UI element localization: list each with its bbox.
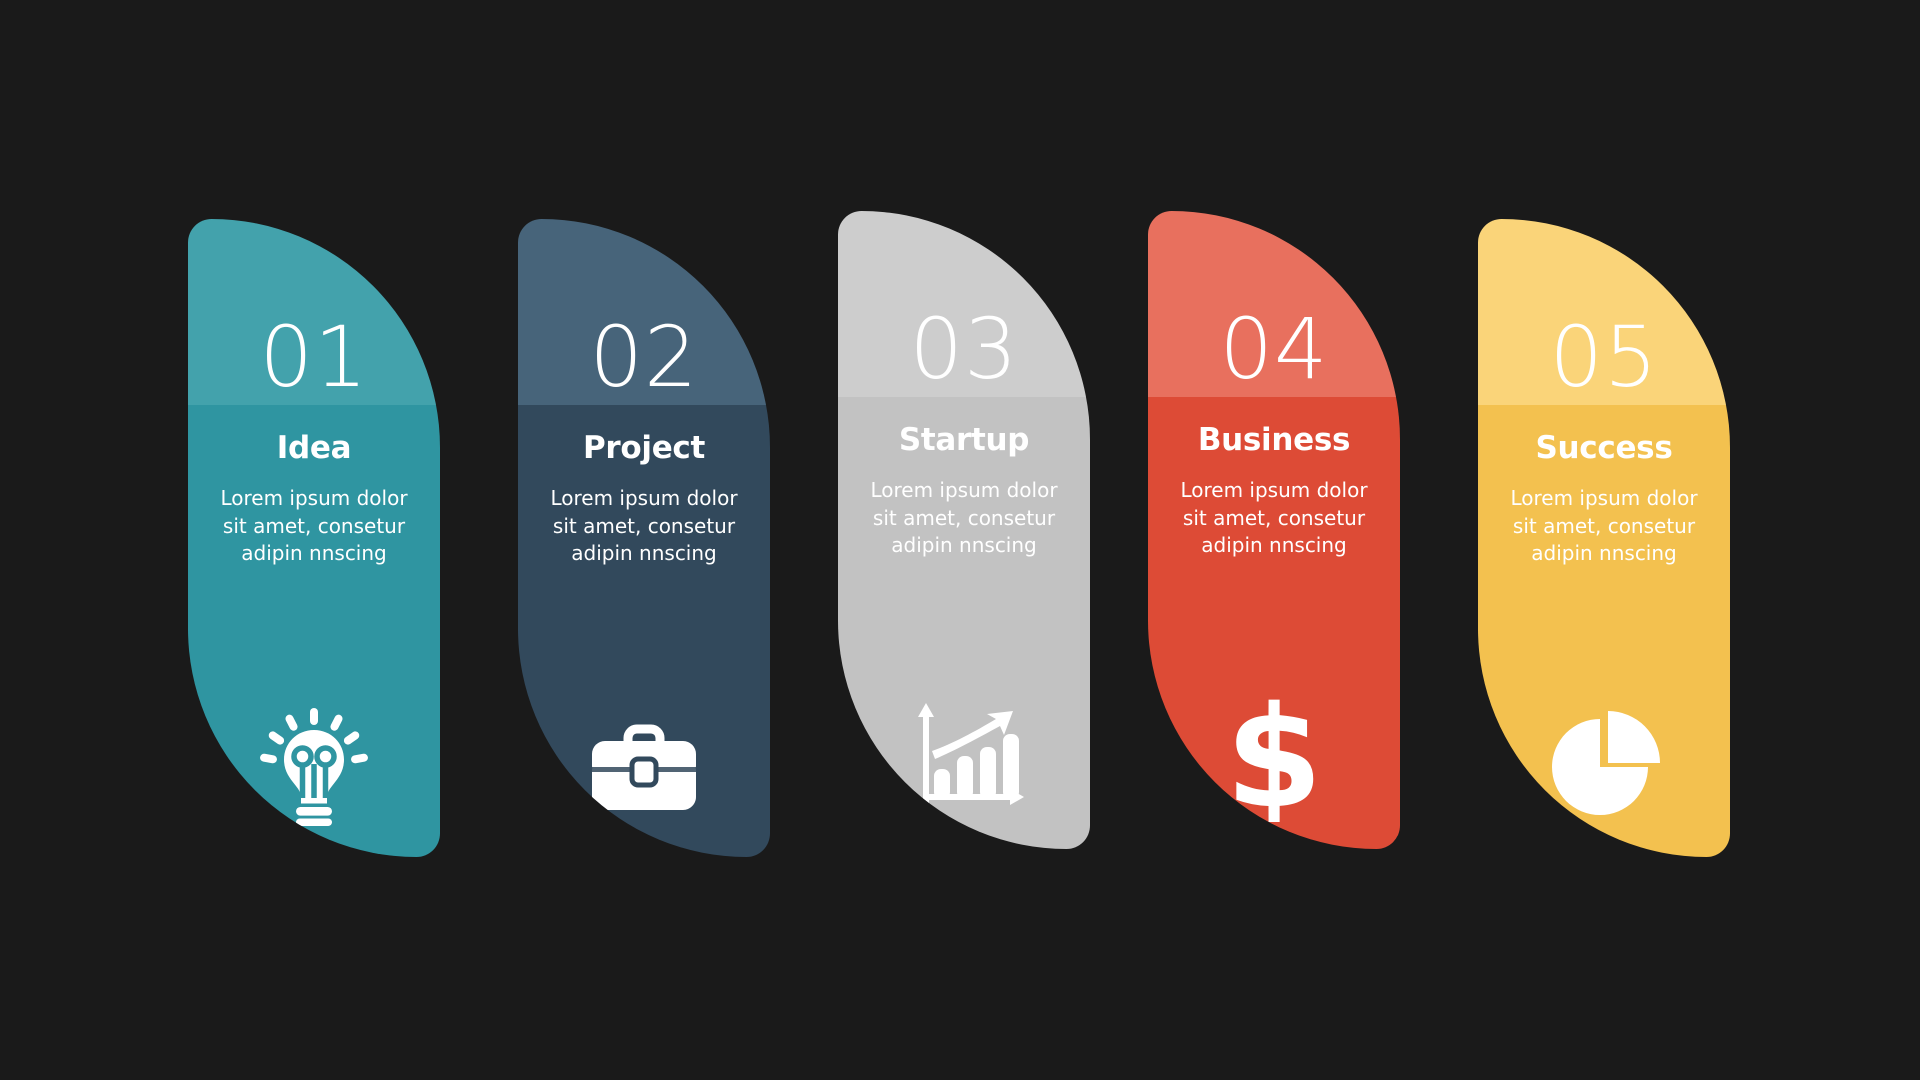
svg-text:$: $ xyxy=(1228,696,1320,822)
card-number: 04 xyxy=(1220,307,1329,391)
card-number-band: 01 xyxy=(188,219,440,405)
card-text-band: StartupLorem ipsum dolor sit amet, conse… xyxy=(838,397,1090,669)
card-description: Lorem ipsum dolor sit amet, consetur adi… xyxy=(532,485,756,568)
card-text-band: SuccessLorem ipsum dolor sit amet, conse… xyxy=(1478,405,1730,677)
card-title: Idea xyxy=(202,431,426,465)
step-card-4[interactable]: 04BusinessLorem ipsum dolor sit amet, co… xyxy=(1148,211,1400,849)
card-icon-band xyxy=(188,677,440,857)
card-icon-band: $ xyxy=(1148,669,1400,849)
card-text-band: ProjectLorem ipsum dolor sit amet, conse… xyxy=(518,405,770,677)
card-title: Business xyxy=(1162,423,1386,457)
card-number: 02 xyxy=(590,315,699,399)
step-card-2[interactable]: 02ProjectLorem ipsum dolor sit amet, con… xyxy=(518,219,770,857)
card-description: Lorem ipsum dolor sit amet, consetur adi… xyxy=(1162,477,1386,560)
card-title: Project xyxy=(532,431,756,465)
card-title: Startup xyxy=(852,423,1076,457)
card-number: 01 xyxy=(260,315,369,399)
card-description: Lorem ipsum dolor sit amet, consetur adi… xyxy=(202,485,426,568)
card-number-band: 03 xyxy=(838,211,1090,397)
dollar-sign-icon: $ xyxy=(1228,696,1320,822)
card-number-band: 04 xyxy=(1148,211,1400,397)
card-text-band: BusinessLorem ipsum dolor sit amet, cons… xyxy=(1148,397,1400,669)
lightbulb-icon xyxy=(260,708,368,826)
card-icon-band xyxy=(518,677,770,857)
step-card-5[interactable]: 05SuccessLorem ipsum dolor sit amet, con… xyxy=(1478,219,1730,857)
pie-chart-icon xyxy=(1548,711,1660,823)
briefcase-icon xyxy=(584,717,704,817)
card-icon-band xyxy=(838,669,1090,849)
card-number: 05 xyxy=(1550,315,1659,399)
infographic-stage: 01IdeaLorem ipsum dolor sit amet, conset… xyxy=(0,0,1920,1080)
card-title: Success xyxy=(1492,431,1716,465)
card-number: 03 xyxy=(910,307,1019,391)
card-icon-band xyxy=(1478,677,1730,857)
card-description: Lorem ipsum dolor sit amet, consetur adi… xyxy=(1492,485,1716,568)
bar-chart-growth-icon xyxy=(904,703,1024,815)
card-text-band: IdeaLorem ipsum dolor sit amet, consetur… xyxy=(188,405,440,677)
card-number-band: 02 xyxy=(518,219,770,405)
step-card-1[interactable]: 01IdeaLorem ipsum dolor sit amet, conset… xyxy=(188,219,440,857)
card-number-band: 05 xyxy=(1478,219,1730,405)
card-description: Lorem ipsum dolor sit amet, consetur adi… xyxy=(852,477,1076,560)
step-card-3[interactable]: 03StartupLorem ipsum dolor sit amet, con… xyxy=(838,211,1090,849)
